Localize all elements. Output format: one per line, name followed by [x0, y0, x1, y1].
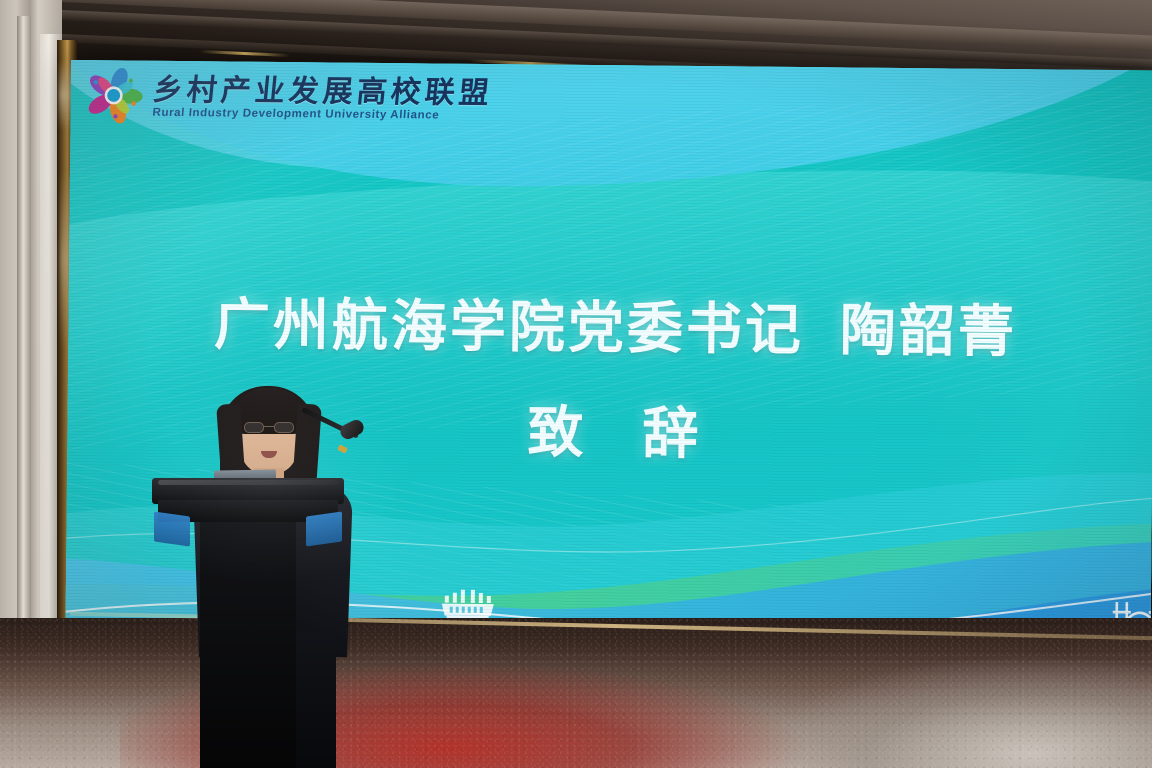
- title-position-name: 广州航海学院党委书记: [214, 292, 805, 361]
- title-action-char-2: 辞: [642, 402, 702, 466]
- glasses-lens-left: [244, 422, 264, 433]
- alliance-name-cn: 乡村产业发展高校联盟: [151, 76, 494, 109]
- microphone-head: [338, 417, 366, 441]
- title-line-1: 广州航海学院党委书记陶韶菁: [65, 278, 1152, 370]
- alliance-logo: 乡村产业发展高校联盟 Rural Industry Development Un…: [82, 66, 493, 128]
- alliance-logo-text: 乡村产业发展高校联盟 Rural Industry Development Un…: [152, 72, 492, 123]
- alliance-name-en: Rural Industry Development University Al…: [152, 108, 493, 123]
- podium-desktop-sheen: [158, 480, 338, 485]
- microphone-connector: [337, 444, 348, 453]
- title-action-char-1: 致: [527, 400, 587, 464]
- screenshot-root: 乡村产业发展高校联盟 Rural Industry Development Un…: [0, 0, 1152, 768]
- podium-acrylic-right: [306, 511, 342, 546]
- podium-acrylic-left: [154, 511, 190, 546]
- glasses-bridge: [264, 426, 274, 427]
- alliance-pinwheel-emblem-icon: [82, 66, 145, 125]
- title-person-name: 陶韶菁: [840, 298, 1018, 363]
- podium: [152, 478, 344, 768]
- podium-column: [200, 522, 296, 768]
- gold-trim-highlight-2: [59, 60, 71, 130]
- microphone: [286, 422, 364, 482]
